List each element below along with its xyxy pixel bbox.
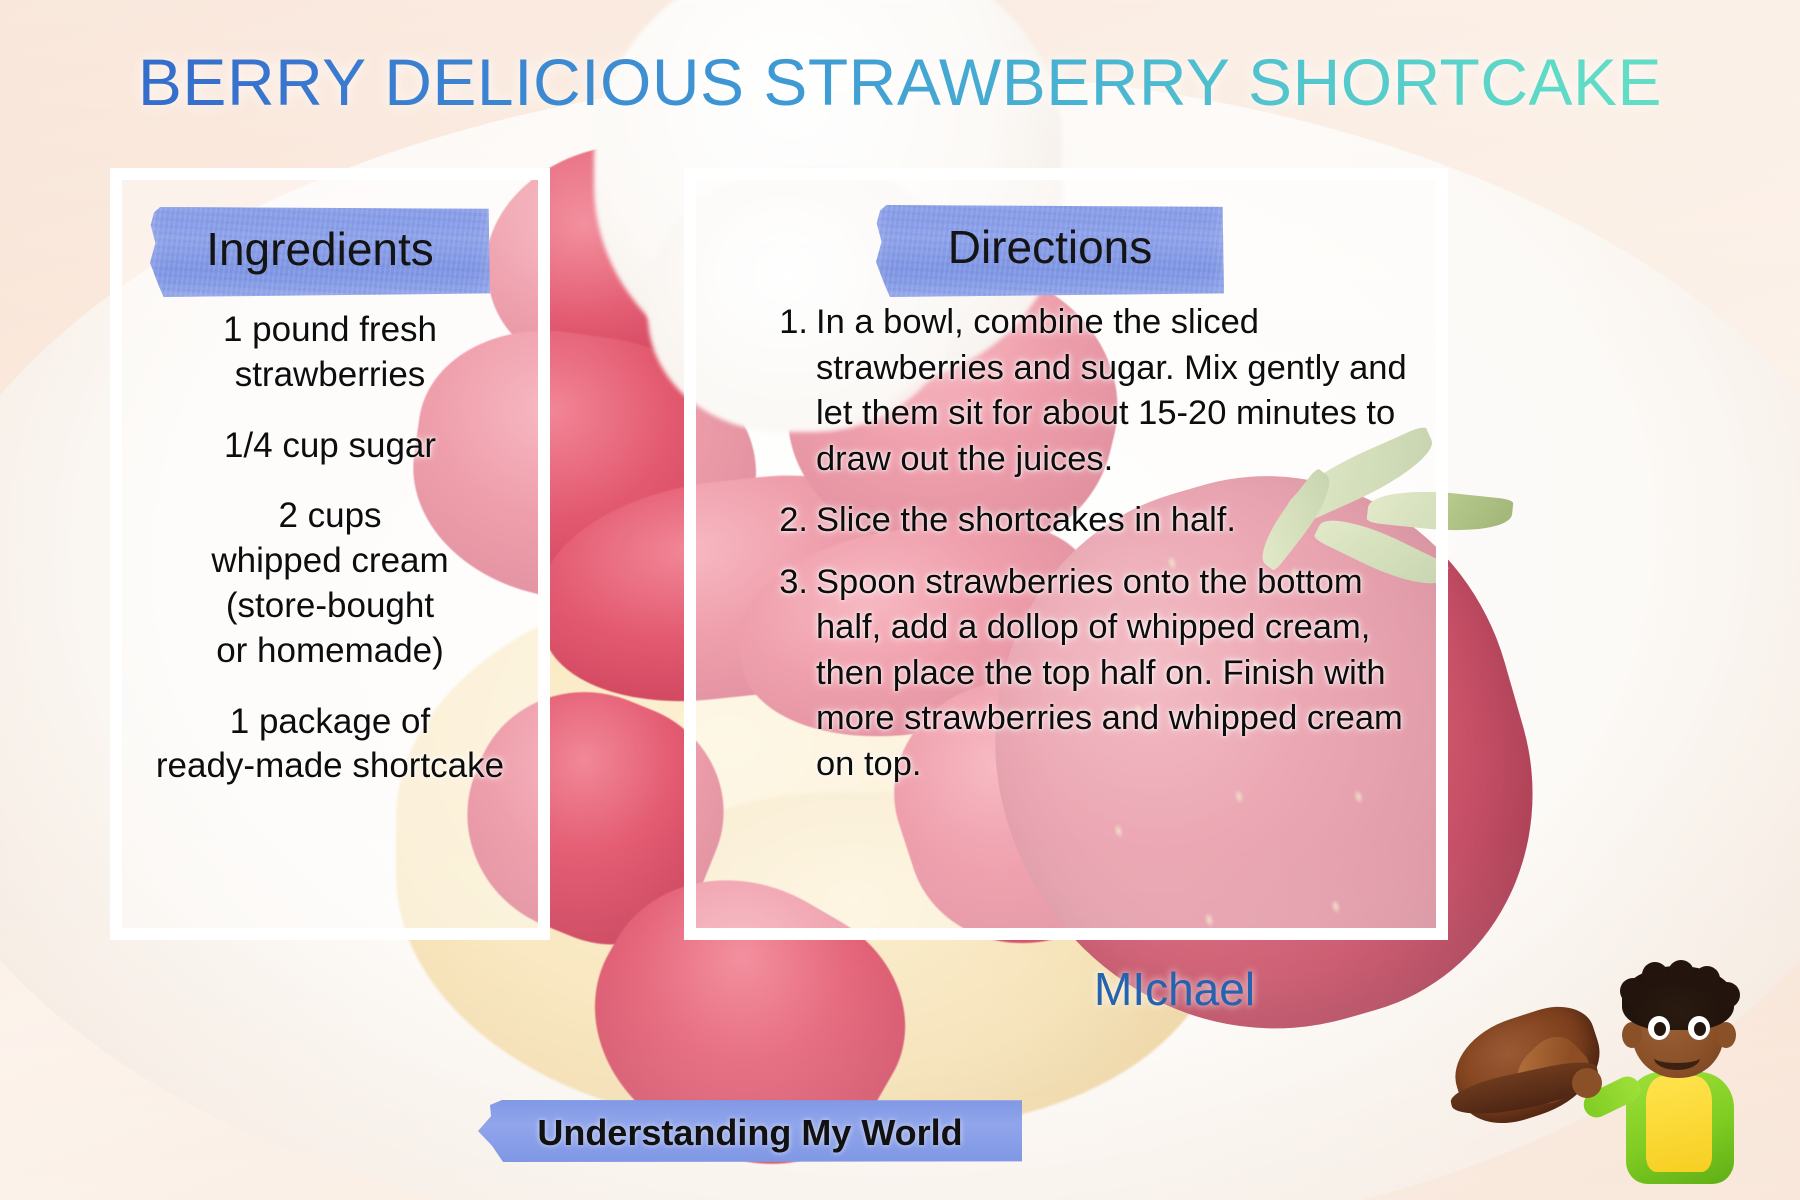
boy-ear [1716,1022,1736,1048]
step-number: 1. [776,300,816,482]
boy-vest [1646,1076,1712,1172]
step-number: 3. [776,560,816,788]
boy-pupil [1694,1022,1706,1036]
step-text: Slice the shortcakes in half. [816,498,1436,544]
author-signature: MIchael [1094,962,1255,1016]
page-title: BERRY DELICIOUS STRAWBERRY SHORTCAKE [0,44,1800,120]
character-illustration [1448,960,1778,1200]
list-item: 2 cups whipped cream (store-bought or ho… [128,494,532,673]
ingredients-list: 1 pound fresh strawberries 1/4 cup sugar… [128,308,532,815]
step-number: 2. [776,498,816,544]
list-item: 1. In a bowl, combine the sliced strawbe… [776,300,1436,482]
recipe-card: BERRY DELICIOUS STRAWBERRY SHORTCAKE Ing… [0,0,1800,1200]
list-item: 1/4 cup sugar [128,424,532,469]
boy-hand [1572,1068,1602,1098]
boy-hair-curl [1620,978,1646,1004]
list-item: 3. Spoon strawberries onto the bottom ha… [776,560,1436,788]
directions-list: 1. In a bowl, combine the sliced strawbe… [776,300,1436,803]
ingredients-heading: Ingredients [150,222,490,276]
boy-smile [1654,1046,1700,1070]
list-item: 1 package of ready-made shortcake [128,700,532,790]
boy-hair-curl [1714,982,1740,1008]
footer-brand-label: Understanding My World [478,1112,1022,1154]
list-item: 2. Slice the shortcakes in half. [776,498,1436,544]
boy-pupil [1654,1022,1666,1036]
boy-hair-curl [1668,960,1694,986]
list-item: 1 pound fresh strawberries [128,308,532,398]
step-text: In a bowl, combine the sliced strawberri… [816,300,1436,482]
boy-character-icon [1576,960,1776,1200]
directions-heading: Directions [876,220,1224,274]
step-text: Spoon strawberries onto the bottom half,… [816,560,1436,788]
boy-hair-curl [1642,962,1668,988]
